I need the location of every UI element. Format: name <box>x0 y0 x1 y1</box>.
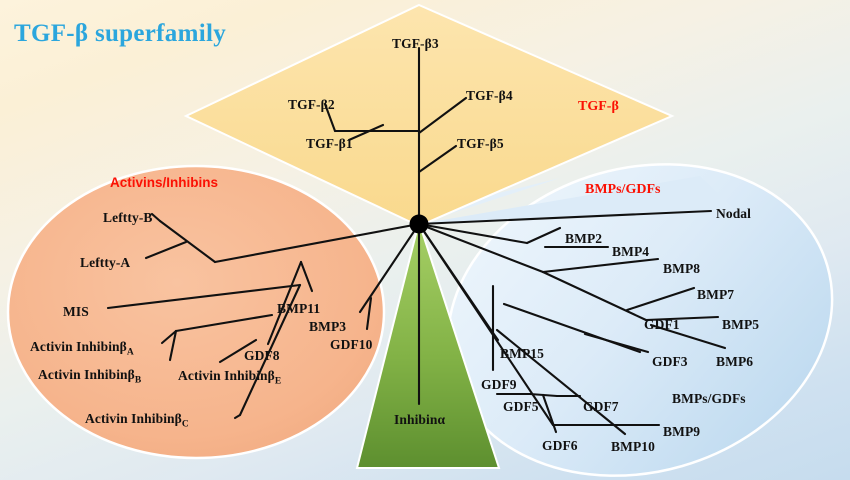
leaf-gdf10: GDF10 <box>330 338 373 352</box>
subscript: A <box>127 348 134 358</box>
leaf-bmp5: BMP5 <box>722 318 759 332</box>
leaf-gdf5: GDF5 <box>503 400 539 414</box>
subscript: B <box>135 376 141 386</box>
leaf-gdf7: GDF7 <box>583 400 619 414</box>
leaf-nodal: Nodal <box>716 207 751 221</box>
group-label-bmps-gdfs-inner: BMPs/GDFs <box>672 392 746 406</box>
leaf-gdf6: GDF6 <box>542 439 578 453</box>
tree-root-hub <box>410 215 429 234</box>
leaf-bmp7: BMP7 <box>697 288 734 302</box>
leaf-bmp4: BMP4 <box>612 245 649 259</box>
leaf-activin-inhibin-beta-a: Activin InhibinβA <box>30 340 134 358</box>
leaf-gdf8: GDF8 <box>244 349 280 363</box>
leaf-bmp8: BMP8 <box>663 262 700 276</box>
leaf-activin-inhibin-beta-c: Activin InhibinβC <box>85 412 189 430</box>
subscript: C <box>182 420 189 430</box>
leaf-bmp15: BMP15 <box>500 347 544 361</box>
phylogenetic-tree-svg <box>0 0 850 480</box>
leaf-text: Activin Inhibinβ <box>38 367 135 382</box>
leaf-gdf3: GDF3 <box>652 355 688 369</box>
group-label-activins: Activins/Inhibins <box>110 175 218 190</box>
leaf-bmp9: BMP9 <box>663 425 700 439</box>
leaf-tgf-beta5: TGF-β5 <box>457 137 504 151</box>
leaf-tgf-beta2: TGF-β2 <box>288 98 335 112</box>
leaf-text: Activin Inhibinβ <box>30 339 127 354</box>
leaf-tgf-beta1: TGF-β1 <box>306 137 353 151</box>
group-label-tgfb: TGF-β <box>578 99 619 115</box>
leaf-leftty-a: Leftty-A <box>80 256 130 270</box>
leaf-inhibin-alpha: Inhibinα <box>394 413 445 427</box>
leaf-gdf9: GDF9 <box>481 378 517 392</box>
subscript: E <box>275 377 281 387</box>
leaf-text: Activin Inhibinβ <box>178 368 275 383</box>
leaf-bmp10: BMP10 <box>611 440 655 454</box>
leaf-bmp3: BMP3 <box>309 320 346 334</box>
leaf-gdf1: GDF1 <box>644 318 680 332</box>
page-title: TGF-β superfamily <box>14 20 226 48</box>
leaf-bmp6: BMP6 <box>716 355 753 369</box>
leaf-bmp2: BMP2 <box>565 232 602 246</box>
leaf-tgf-beta3: TGF-β3 <box>392 37 439 51</box>
leaf-mis: MIS <box>63 305 89 319</box>
leaf-activin-inhibin-beta-e: Activin InhibinβE <box>178 369 281 387</box>
leaf-text: Activin Inhibinβ <box>85 411 182 426</box>
leaf-leftty-b: Leftty-B <box>103 211 153 225</box>
group-shapes <box>8 5 850 480</box>
leaf-tgf-beta4: TGF-β4 <box>466 89 513 103</box>
leaf-bmp11: BMP11 <box>277 302 320 316</box>
group-label-bmps-gdfs: BMPs/GDFs <box>585 182 660 198</box>
leaf-activin-inhibin-beta-b: Activin InhibinβB <box>38 368 141 386</box>
diagram-canvas: TGF-β superfamily TGF-β Activins/Inhibin… <box>0 0 850 480</box>
